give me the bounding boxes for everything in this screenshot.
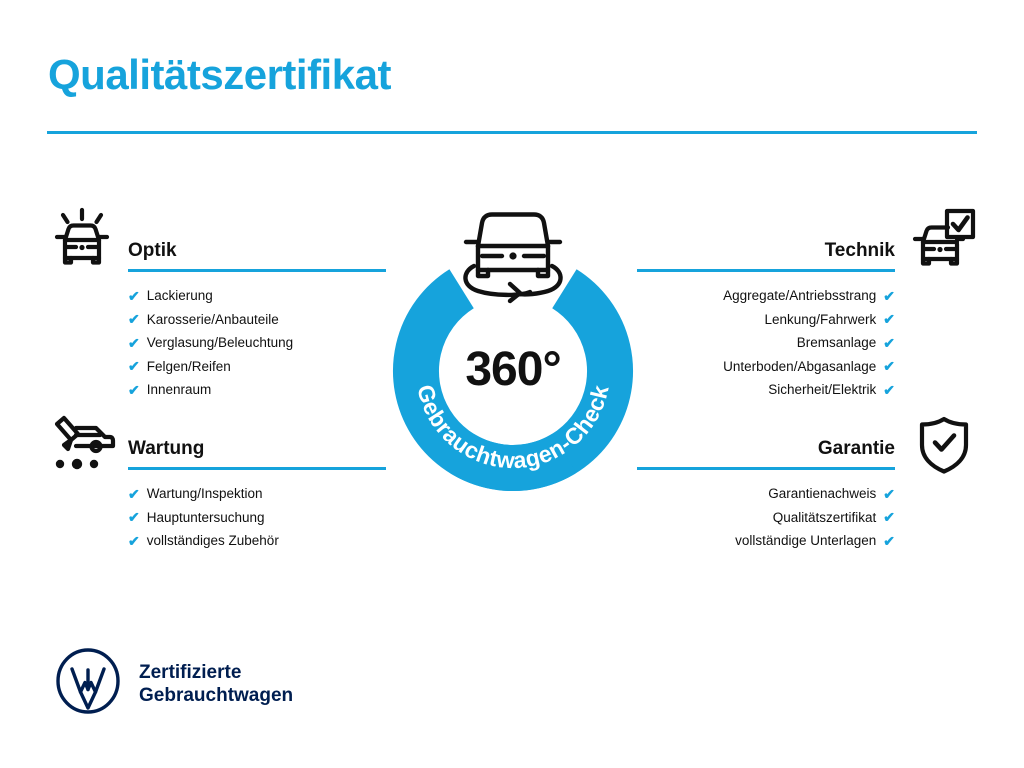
list-item: ✔Hauptuntersuchung bbox=[128, 506, 386, 530]
check-icon: ✔ bbox=[883, 289, 895, 303]
section-header-garantie: Garantie bbox=[637, 436, 895, 470]
list-item-label: vollständiges Zubehör bbox=[147, 529, 279, 553]
check-icon: ✔ bbox=[128, 312, 140, 326]
section-title: Technik bbox=[637, 238, 895, 264]
list-item: Garantienachweis✔ bbox=[637, 482, 895, 506]
check-icon: ✔ bbox=[128, 487, 140, 501]
badge-360-check: Gebrauchtwagen-Check 360° bbox=[378, 196, 648, 506]
checklist-garantie: Garantienachweis✔ Qualitätszertifikat✔ v… bbox=[637, 482, 895, 553]
section-divider bbox=[637, 467, 895, 470]
car-service-pen-icon bbox=[46, 414, 118, 481]
list-item: ✔Karosserie/Anbauteile bbox=[128, 308, 386, 332]
section-header-wartung: Wartung bbox=[128, 436, 386, 470]
list-item-label: Felgen/Reifen bbox=[147, 355, 231, 379]
list-item-label: Qualitätszertifikat bbox=[773, 506, 877, 530]
section-header-technik: Technik bbox=[637, 238, 895, 272]
check-icon: ✔ bbox=[883, 383, 895, 397]
car-rotate-icon bbox=[465, 215, 560, 302]
check-icon: ✔ bbox=[128, 534, 140, 548]
list-item: Qualitätszertifikat✔ bbox=[637, 506, 895, 530]
list-item: ✔Innenraum bbox=[128, 378, 386, 402]
check-icon: ✔ bbox=[883, 359, 895, 373]
list-item: ✔Verglasung/Beleuchtung bbox=[128, 331, 386, 355]
list-item-label: Bremsanlage bbox=[797, 331, 877, 355]
section-optik: Optik ✔Lackierung ✔Karosserie/Anbauteile… bbox=[128, 238, 386, 402]
check-icon: ✔ bbox=[128, 510, 140, 524]
section-technik: Technik Aggregate/Antriebsstrang✔ Lenkun… bbox=[637, 238, 895, 402]
section-title: Optik bbox=[128, 238, 386, 264]
car-checkbox-icon bbox=[906, 204, 978, 281]
section-garantie: Garantie Garantienachweis✔ Qualitätszert… bbox=[637, 436, 895, 553]
vw-lockup-text: Zertifizierte Gebrauchtwagen bbox=[139, 661, 293, 707]
list-item: Lenkung/Fahrwerk✔ bbox=[637, 308, 895, 332]
page-title: Qualitätszertifikat bbox=[48, 52, 391, 98]
list-item-label: Unterboden/Abgasanlage bbox=[723, 355, 876, 379]
check-icon: ✔ bbox=[883, 312, 895, 326]
list-item: ✔vollständiges Zubehör bbox=[128, 529, 386, 553]
checklist-wartung: ✔Wartung/Inspektion ✔Hauptuntersuchung ✔… bbox=[128, 482, 386, 553]
list-item: Aggregate/Antriebsstrang✔ bbox=[637, 284, 895, 308]
list-item: Sicherheit/Elektrik✔ bbox=[637, 378, 895, 402]
list-item-label: vollständige Unterlagen bbox=[735, 529, 876, 553]
section-divider bbox=[637, 269, 895, 272]
list-item-label: Lackierung bbox=[147, 284, 213, 308]
list-item-label: Garantienachweis bbox=[768, 482, 876, 506]
vw-certified-lockup: Zertifizierte Gebrauchtwagen bbox=[55, 648, 293, 719]
list-item-label: Aggregate/Antriebsstrang bbox=[723, 284, 876, 308]
list-item-label: Wartung/Inspektion bbox=[147, 482, 263, 506]
badge-center-value: 360° bbox=[378, 342, 648, 397]
vw-lockup-line2: Gebrauchtwagen bbox=[139, 685, 293, 706]
checklist-technik: Aggregate/Antriebsstrang✔ Lenkung/Fahrwe… bbox=[637, 284, 895, 402]
check-icon: ✔ bbox=[128, 336, 140, 350]
checklist-optik: ✔Lackierung ✔Karosserie/Anbauteile ✔Verg… bbox=[128, 284, 386, 402]
list-item-label: Karosserie/Anbauteile bbox=[147, 308, 279, 332]
check-icon: ✔ bbox=[883, 487, 895, 501]
section-divider bbox=[128, 467, 386, 470]
list-item-label: Sicherheit/Elektrik bbox=[768, 378, 876, 402]
list-item: ✔Felgen/Reifen bbox=[128, 355, 386, 379]
check-icon: ✔ bbox=[128, 359, 140, 373]
list-item: Unterboden/Abgasanlage✔ bbox=[637, 355, 895, 379]
list-item-label: Lenkung/Fahrwerk bbox=[764, 308, 876, 332]
shield-check-icon bbox=[913, 414, 975, 481]
check-icon: ✔ bbox=[883, 336, 895, 350]
section-header-optik: Optik bbox=[128, 238, 386, 272]
list-item-label: Innenraum bbox=[147, 378, 212, 402]
check-icon: ✔ bbox=[883, 534, 895, 548]
vw-lockup-line1: Zertifizierte bbox=[139, 662, 241, 683]
section-title: Wartung bbox=[128, 436, 386, 462]
list-item: ✔Lackierung bbox=[128, 284, 386, 308]
list-item-label: Verglasung/Beleuchtung bbox=[147, 331, 293, 355]
list-item: ✔Wartung/Inspektion bbox=[128, 482, 386, 506]
check-icon: ✔ bbox=[128, 383, 140, 397]
check-icon: ✔ bbox=[883, 510, 895, 524]
section-title: Garantie bbox=[637, 436, 895, 462]
section-divider bbox=[128, 269, 386, 272]
section-wartung: Wartung ✔Wartung/Inspektion ✔Hauptunters… bbox=[128, 436, 386, 553]
check-icon: ✔ bbox=[128, 289, 140, 303]
list-item-label: Hauptuntersuchung bbox=[147, 506, 265, 530]
title-divider bbox=[47, 131, 977, 134]
vw-logo bbox=[55, 648, 121, 719]
list-item: Bremsanlage✔ bbox=[637, 331, 895, 355]
certificate-page: Qualitätszertifikat bbox=[0, 0, 1024, 768]
car-shine-icon bbox=[46, 204, 118, 281]
list-item: vollständige Unterlagen✔ bbox=[637, 529, 895, 553]
